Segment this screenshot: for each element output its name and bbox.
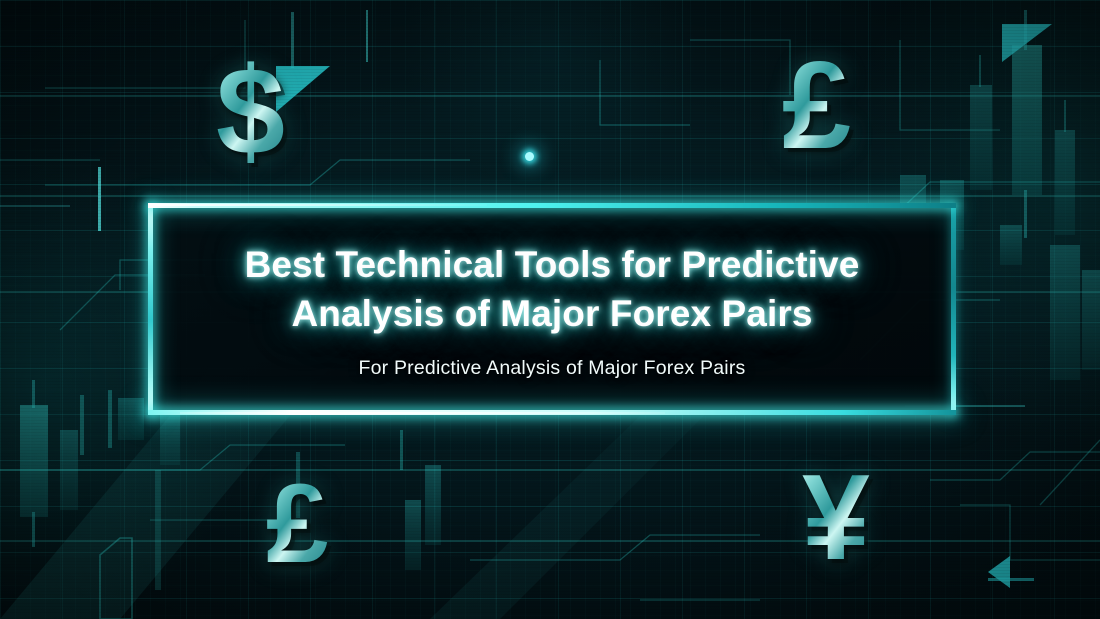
page-title: Best Technical Tools for Predictive Anal… [245,240,860,338]
page-subtitle: For Predictive Analysis of Major Forex P… [358,357,745,380]
forex-banner: $ $ £ £ £ £ ¥ ¥ Best Technical Tools for… [0,0,1100,619]
headline-frame: Best Technical Tools for Predictive Anal… [148,203,956,415]
dollar-icon: $ [216,50,285,174]
yen-icon: ¥ [802,456,870,578]
page-title-line-1: Best Technical Tools for Predictive [245,244,860,285]
pound-icon-bottom: £ [266,468,328,580]
pound-icon-top: £ [782,44,851,168]
glow-node-icon [525,152,534,161]
headline-text-block: Best Technical Tools for Predictive Anal… [148,203,956,415]
page-title-line-2: Analysis of Major Forex Pairs [291,293,812,334]
